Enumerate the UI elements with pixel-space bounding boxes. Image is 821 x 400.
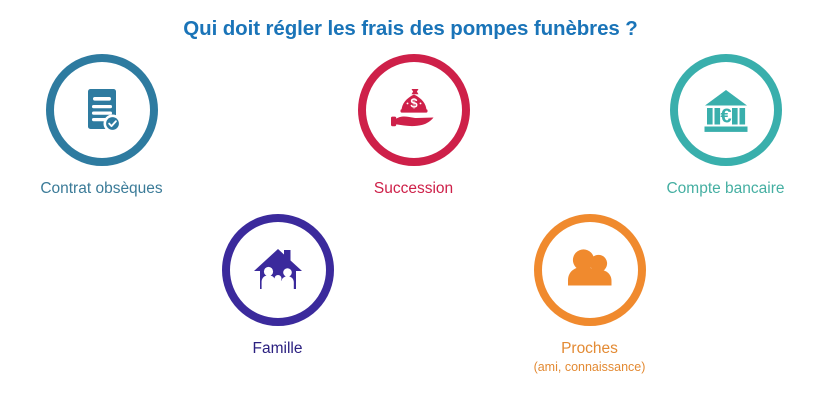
label-famille: Famille	[253, 339, 303, 358]
ring-compte-bancaire: €	[670, 54, 782, 166]
label-compte-bancaire: Compte bancaire	[666, 179, 784, 198]
label-contrat-obseques: Contrat obsèques	[40, 179, 162, 198]
item-contrat-obseques: Contrat obsèques	[17, 54, 187, 198]
item-succession: $ Succession	[329, 54, 499, 198]
ring-proches	[534, 214, 646, 326]
document-check-icon	[74, 82, 130, 138]
sublabel-proches: (ami, connaissance)	[534, 360, 646, 374]
infographic-root: Qui doit régler les frais des pompes fun…	[0, 0, 821, 400]
house-family-icon	[248, 240, 308, 300]
page-title: Qui doit régler les frais des pompes fun…	[0, 0, 821, 42]
svg-text:€: €	[720, 105, 731, 127]
icon-row-bottom: Famille Proches (ami, connaissance)	[0, 214, 821, 374]
label-proches: Proches	[561, 339, 618, 358]
bank-euro-icon: €	[697, 81, 755, 139]
item-proches: Proches (ami, connaissance)	[505, 214, 675, 374]
ring-famille	[222, 214, 334, 326]
label-succession: Succession	[374, 179, 453, 198]
item-compte-bancaire: € Compte bancaire	[641, 54, 811, 198]
two-people-icon	[560, 240, 620, 300]
ring-succession: $	[358, 54, 470, 166]
hand-money-bag-icon: $	[385, 81, 443, 139]
icon-row-top: Contrat obsèques $	[0, 54, 821, 198]
svg-text:$: $	[410, 95, 418, 110]
item-famille: Famille	[193, 214, 363, 358]
ring-contrat-obseques	[46, 54, 158, 166]
